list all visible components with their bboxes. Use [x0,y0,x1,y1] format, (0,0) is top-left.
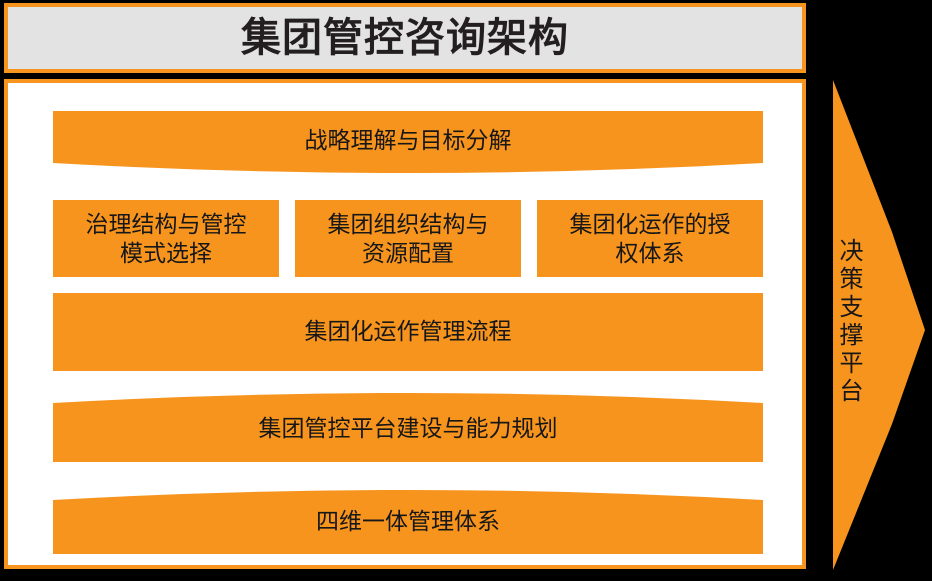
band-row-2-cell-1-label: 治理结构与管控 模式选择 [86,210,247,268]
band-row-2-cell-3[interactable]: 集团化运作的授 权体系 [537,200,763,277]
concave-bottom-shape [53,111,763,175]
band-row-4[interactable]: 集团管控平台建设与能力规划 [53,387,763,462]
band-row-5[interactable]: 四维一体管理体系 [53,484,763,554]
page-title: 集团管控咨询架构 [241,18,569,58]
diagram-body: 战略理解与目标分解 治理结构与管控 模式选择 集团组织结构与 资源配置 集团化运… [4,79,806,569]
band-row-3-label: 集团化运作管理流程 [53,317,763,346]
band-row-2: 治理结构与管控 模式选择 集团组织结构与 资源配置 集团化运作的授 权体系 [53,200,763,277]
title-bar: 集团管控咨询架构 [4,3,806,73]
band-row-3[interactable]: 集团化运作管理流程 [53,293,763,371]
band-stack: 战略理解与目标分解 治理结构与管控 模式选择 集团组织结构与 资源配置 集团化运… [8,83,810,573]
right-arrow-icon [820,72,932,572]
band-row-2-cell-2[interactable]: 集团组织结构与 资源配置 [295,200,521,277]
band-row-2-cell-3-label: 集团化运作的授 权体系 [570,210,731,268]
band-row-1[interactable]: 战略理解与目标分解 [53,111,763,175]
band-row-2-cell-1[interactable]: 治理结构与管控 模式选择 [53,200,279,277]
diagram-root: 集团管控咨询架构 战略理解与目标分解 治理结构与管控 模式选择 集 [0,0,932,581]
framed-panel: 集团管控咨询架构 战略理解与目标分解 治理结构与管控 模式选择 集 [0,0,810,572]
side-arrow[interactable]: 决策支撑平台 [820,72,932,572]
band-row-2-cell-2-label: 集团组织结构与 资源配置 [328,210,489,268]
convex-top-shape [53,387,763,462]
convex-top-shape-2 [53,484,763,554]
